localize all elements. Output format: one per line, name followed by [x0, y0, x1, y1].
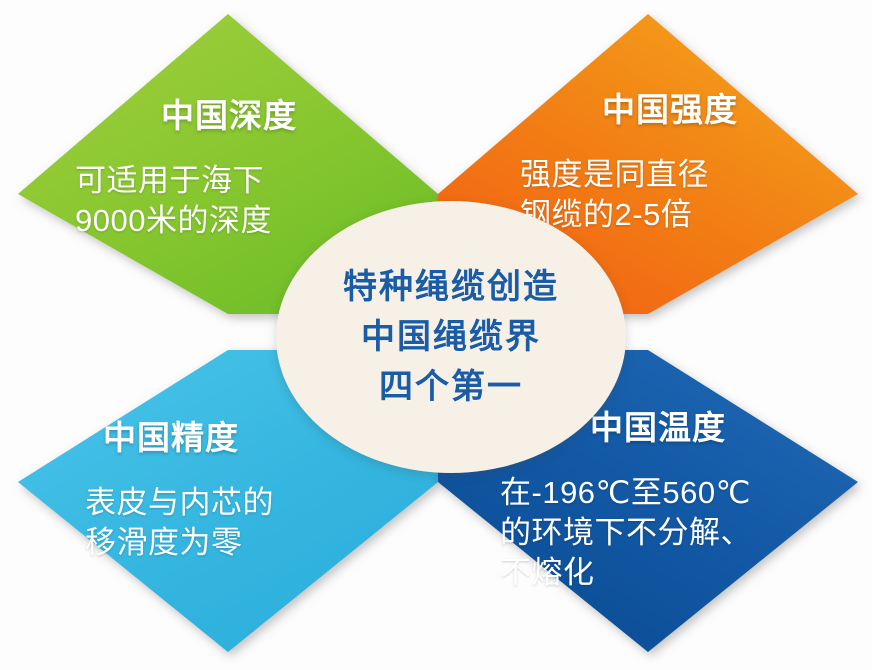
- quadrant-green-text: 中国深度 可适用于海下 9000米的深度: [75, 78, 365, 260]
- quadrant-green-title: 中国深度: [75, 97, 365, 136]
- quadrant-cyan-body: 表皮与内芯的 移滑度为零: [85, 483, 385, 564]
- quadrant-orange-body: 强度是同直径 钢缆的2-5倍: [520, 155, 820, 236]
- quadrant-orange-text: 中国强度 强度是同直径 钢缆的2-5倍: [520, 72, 820, 254]
- quadrant-blue-body: 在-196℃至560℃ 的环境下不分解、 不熔化: [500, 473, 820, 594]
- center-headline: 特种绳缆创造 中国绳缆界 四个第一: [343, 262, 559, 413]
- quadrant-orange-title: 中国强度: [520, 91, 820, 130]
- quadrant-green-body: 可适用于海下 9000米的深度: [75, 161, 365, 242]
- infographic-canvas: 中国深度 可适用于海下 9000米的深度 中国强度 强度是同直径 钢缆的2-5倍: [0, 0, 872, 670]
- center-ellipse[interactable]: 特种绳缆创造 中国绳缆界 四个第一: [276, 201, 626, 473]
